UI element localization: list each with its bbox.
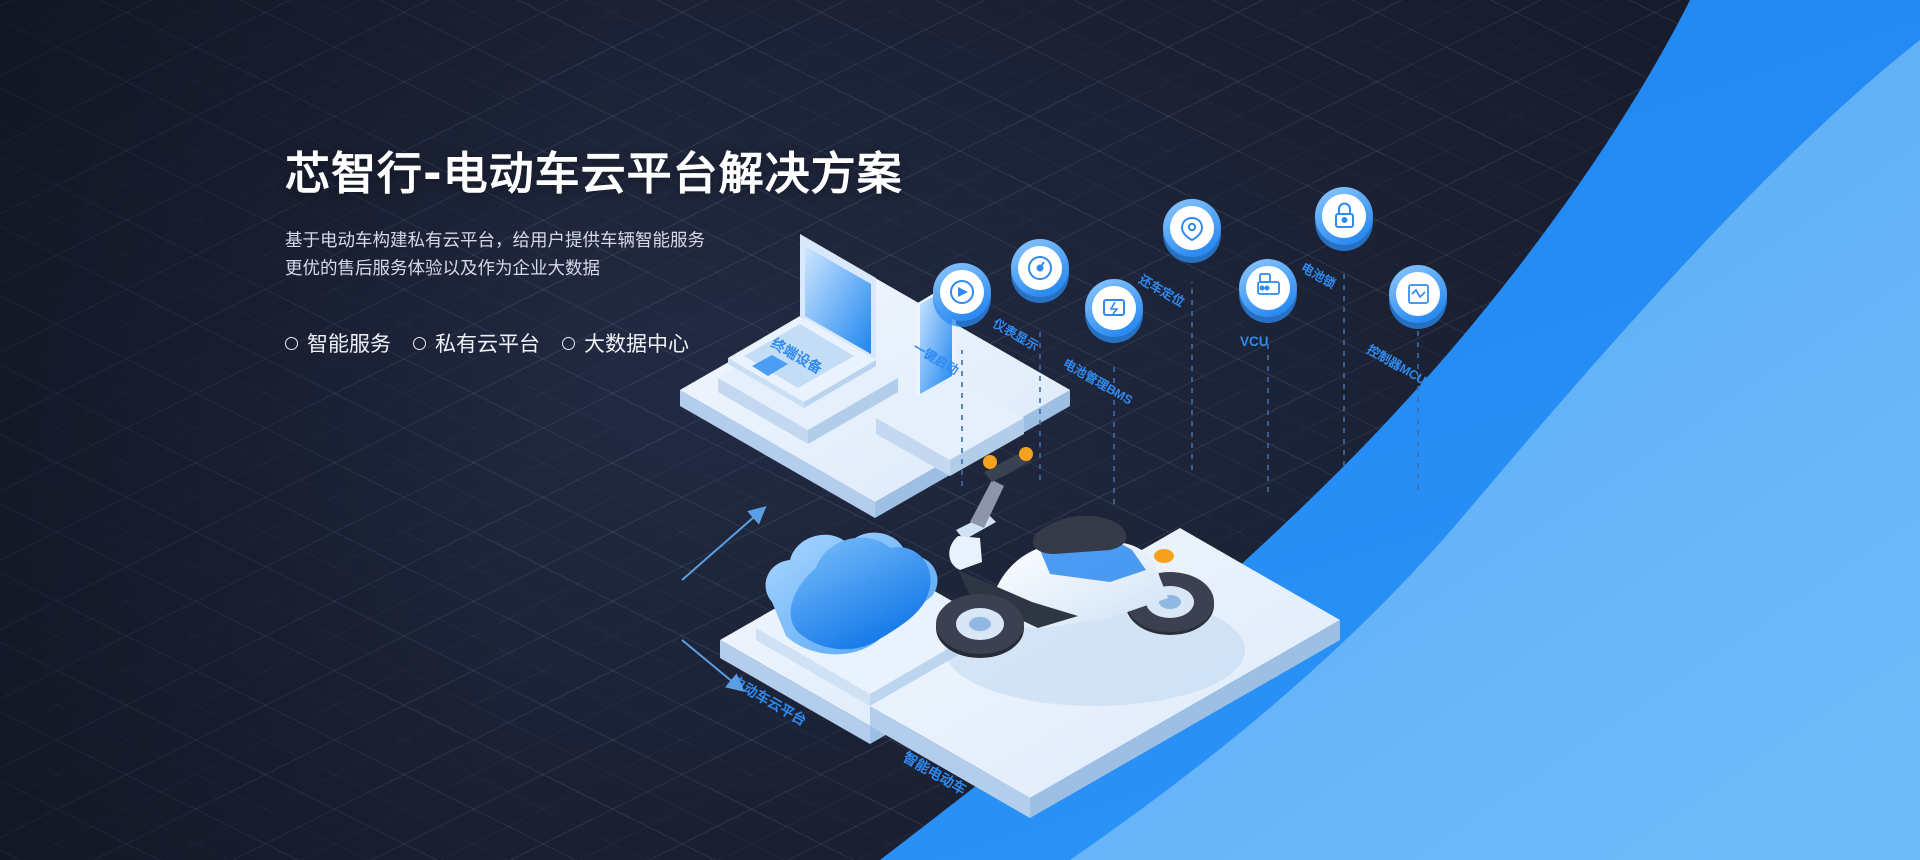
feature-label: 智能服务 — [307, 328, 391, 358]
module-badge-5[interactable]: 电池锁 — [1299, 187, 1374, 292]
module-label: 控制器MCU — [1365, 342, 1430, 388]
module-badge-6[interactable]: 控制器MCU — [1365, 265, 1448, 388]
illustration-svg: 终端设备 电动车云平台 — [640, 150, 1920, 860]
module-label: 电池管理BMS — [1061, 356, 1136, 408]
feature-item-1: 私有云平台 — [413, 328, 540, 358]
module-badge-1[interactable]: 仪表显示 — [990, 239, 1069, 354]
module-badge-3[interactable]: 还车定位 — [1136, 199, 1221, 310]
circle-outline-icon — [562, 337, 575, 350]
module-label: VCU — [1240, 334, 1269, 349]
module-label: 仪表显示 — [990, 315, 1042, 354]
circle-outline-icon — [413, 337, 426, 350]
module-label: 电池锁 — [1299, 260, 1339, 292]
module-label: 还车定位 — [1136, 271, 1188, 310]
module-badge-2[interactable]: 电池管理BMS — [1061, 279, 1144, 407]
feature-item-0: 智能服务 — [285, 328, 391, 358]
circle-outline-icon — [285, 337, 298, 350]
front-wheel — [936, 594, 1024, 658]
module-badge-4[interactable]: VCU — [1239, 259, 1297, 349]
isometric-illustration: 终端设备 电动车云平台 — [640, 150, 1920, 860]
feature-label: 私有云平台 — [435, 328, 540, 358]
hero-banner: 芯智行-电动车云平台解决方案 基于电动车构建私有云平台，给用户提供车辆智能服务 … — [0, 0, 1920, 860]
